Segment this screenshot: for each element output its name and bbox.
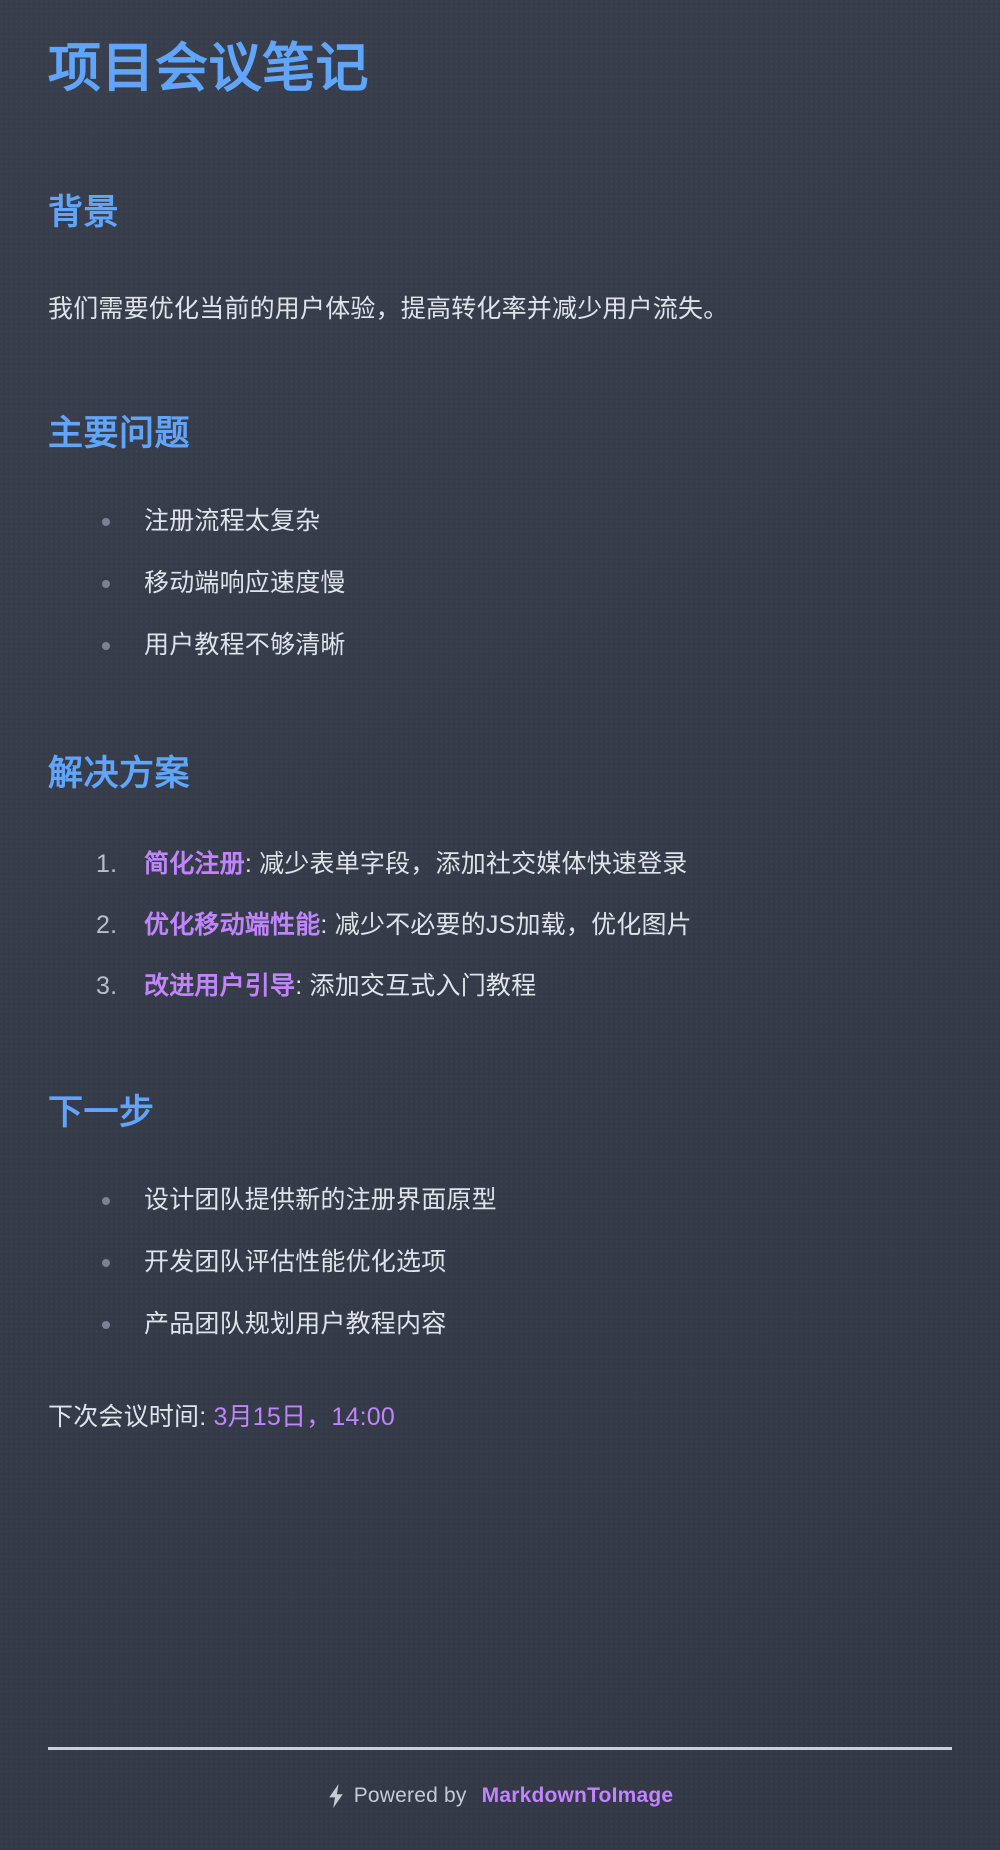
list-item-number: 2. <box>96 908 117 943</box>
footer-divider <box>48 1747 952 1750</box>
list-item-label: 产品团队规划用户教程内容 <box>144 1310 446 1338</box>
bullet-dot-icon <box>102 580 110 588</box>
list-item: 2. 优化移动端性能: 减少不必要的JS加载，优化图片 <box>48 908 952 943</box>
next-steps-list: 设计团队提供新的注册界面原型 开发团队评估性能优化选项 产品团队规划用户教程内容 <box>48 1135 952 1342</box>
footer-brand-link[interactable]: MarkdownToImage <box>482 1784 674 1808</box>
footer-powered-by-label: Powered by <box>354 1784 467 1808</box>
list-item-label: 移动端响应速度慢 <box>144 569 346 597</box>
list-item-label: 简化注册 <box>144 850 245 878</box>
bullet-dot-icon <box>102 642 110 650</box>
list-item-label: 开发团队评估性能优化选项 <box>144 1248 446 1276</box>
background-paragraph: 我们需要优化当前的用户体验，提高转化率并减少用户流失。 <box>48 236 952 329</box>
list-item: 1. 简化注册: 减少表单字段，添加社交媒体快速登录 <box>48 847 952 882</box>
list-item: 设计团队提供新的注册界面原型 <box>48 1183 952 1218</box>
bullet-dot-icon <box>102 518 110 526</box>
list-item: 3. 改进用户引导: 添加交互式入门教程 <box>48 969 952 1004</box>
list-item-separator: : <box>320 911 334 939</box>
list-item-number: 1. <box>96 847 117 882</box>
lightning-bolt-icon <box>327 1784 345 1808</box>
problems-list: 注册流程太复杂 移动端响应速度慢 用户教程不够清晰 <box>48 456 952 663</box>
list-item-detail: 减少不必要的JS加载，优化图片 <box>335 911 692 939</box>
next-meeting-label: 下次会议时间: <box>48 1403 214 1431</box>
footer-credit: Powered by MarkdownToImage <box>48 1784 952 1808</box>
markdown-note-page: 项目会议笔记 背景 我们需要优化当前的用户体验，提高转化率并减少用户流失。 主要… <box>0 0 1000 1850</box>
page-title: 项目会议笔记 <box>48 0 952 102</box>
next-meeting-value: 3月15日，14:00 <box>214 1403 395 1431</box>
list-item: 开发团队评估性能优化选项 <box>48 1245 952 1280</box>
list-item-label: 设计团队提供新的注册界面原型 <box>144 1186 497 1214</box>
list-item-label: 用户教程不够清晰 <box>144 631 346 659</box>
list-item-separator: : <box>295 972 309 1000</box>
bullet-dot-icon <box>102 1321 110 1329</box>
list-item: 产品团队规划用户教程内容 <box>48 1307 952 1342</box>
list-item-label: 改进用户引导 <box>144 972 295 1000</box>
list-item: 移动端响应速度慢 <box>48 566 952 601</box>
bullet-dot-icon <box>102 1259 110 1267</box>
list-item-label: 优化移动端性能 <box>144 911 320 939</box>
section-heading-next-steps: 下一步 <box>48 1004 952 1136</box>
bullet-dot-icon <box>102 1197 110 1205</box>
solutions-list: 1. 简化注册: 减少表单字段，添加社交媒体快速登录 2. 优化移动端性能: 减… <box>48 797 952 1004</box>
list-item-detail: 添加交互式入门教程 <box>310 972 537 1000</box>
list-item-label: 注册流程太复杂 <box>144 507 320 535</box>
list-item-separator: : <box>245 850 259 878</box>
section-heading-solutions: 解决方案 <box>48 663 952 797</box>
next-meeting-paragraph: 下次会议时间: 3月15日，14:00 <box>48 1342 952 1435</box>
list-item: 用户教程不够清晰 <box>48 628 952 663</box>
section-heading-background: 背景 <box>48 102 952 236</box>
list-item: 注册流程太复杂 <box>48 504 952 539</box>
list-item-detail: 减少表单字段，添加社交媒体快速登录 <box>259 850 687 878</box>
list-item-number: 3. <box>96 969 117 1004</box>
page-footer: Powered by MarkdownToImage <box>48 1747 952 1850</box>
section-heading-problems: 主要问题 <box>48 329 952 457</box>
